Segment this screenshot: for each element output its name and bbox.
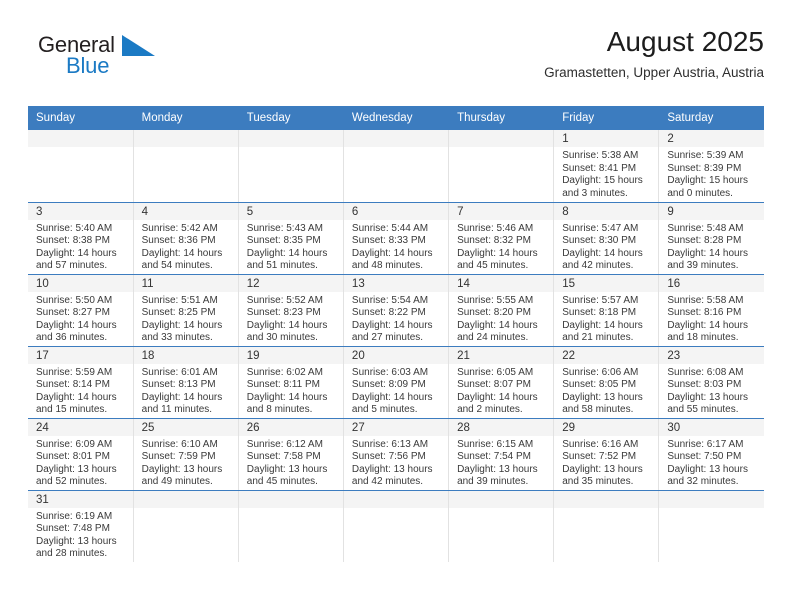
sunrise-text: Sunrise: 5:46 AM	[457, 223, 547, 236]
calendar-day-cell[interactable]: 23Sunrise: 6:08 AMSunset: 8:03 PMDayligh…	[659, 346, 764, 418]
day-details: Sunrise: 6:02 AMSunset: 8:11 PMDaylight:…	[239, 364, 343, 417]
sunset-text: Sunset: 8:13 PM	[142, 379, 232, 392]
day-details: Sunrise: 5:50 AMSunset: 8:27 PMDaylight:…	[28, 292, 133, 345]
day-details: Sunrise: 6:08 AMSunset: 8:03 PMDaylight:…	[659, 364, 764, 417]
calendar-day-cell[interactable]: 15Sunrise: 5:57 AMSunset: 8:18 PMDayligh…	[554, 274, 659, 346]
sunset-text: Sunset: 7:48 PM	[36, 523, 127, 536]
daylight-text-line1: Daylight: 13 hours	[352, 464, 442, 477]
sunset-text: Sunset: 8:20 PM	[457, 307, 547, 320]
daylight-text-line2: and 36 minutes.	[36, 332, 127, 345]
daylight-text-line1: Daylight: 14 hours	[142, 248, 232, 261]
sunrise-text: Sunrise: 5:54 AM	[352, 295, 442, 308]
day-number: 11	[134, 275, 238, 292]
sunrise-text: Sunrise: 5:51 AM	[142, 295, 232, 308]
sunset-text: Sunset: 8:22 PM	[352, 307, 442, 320]
day-number: 23	[659, 347, 764, 364]
day-details: Sunrise: 6:17 AMSunset: 7:50 PMDaylight:…	[659, 436, 764, 489]
calendar-day-cell[interactable]: 20Sunrise: 6:03 AMSunset: 8:09 PMDayligh…	[343, 346, 448, 418]
daylight-text-line2: and 24 minutes.	[457, 332, 547, 345]
daylight-text-line2: and 49 minutes.	[142, 476, 232, 489]
daylight-text-line2: and 3 minutes.	[562, 188, 652, 201]
calendar-body: 1Sunrise: 5:38 AMSunset: 8:41 PMDaylight…	[28, 130, 764, 562]
calendar-cell-empty	[659, 490, 764, 562]
day-number	[239, 491, 343, 508]
general-blue-logo[interactable]: General Blue	[38, 34, 198, 90]
sunset-text: Sunset: 8:25 PM	[142, 307, 232, 320]
day-details: Sunrise: 5:54 AMSunset: 8:22 PMDaylight:…	[344, 292, 448, 345]
day-number: 10	[28, 275, 133, 292]
sunset-text: Sunset: 7:54 PM	[457, 451, 547, 464]
sunset-text: Sunset: 7:52 PM	[562, 451, 652, 464]
daylight-text-line1: Daylight: 14 hours	[142, 320, 232, 333]
day-number: 7	[449, 203, 553, 220]
calendar-day-cell[interactable]: 13Sunrise: 5:54 AMSunset: 8:22 PMDayligh…	[343, 274, 448, 346]
day-number	[134, 491, 238, 508]
weekday-header-tuesday: Tuesday	[238, 106, 343, 130]
daylight-text-line1: Daylight: 13 hours	[36, 464, 127, 477]
daylight-text-line1: Daylight: 14 hours	[36, 392, 127, 405]
daylight-text-line2: and 42 minutes.	[562, 260, 652, 273]
sunrise-text: Sunrise: 6:17 AM	[667, 439, 758, 452]
daylight-text-line2: and 39 minutes.	[667, 260, 758, 273]
sunrise-text: Sunrise: 6:08 AM	[667, 367, 758, 380]
calendar-week-row: 3Sunrise: 5:40 AMSunset: 8:38 PMDaylight…	[28, 202, 764, 274]
calendar-day-cell[interactable]: 29Sunrise: 6:16 AMSunset: 7:52 PMDayligh…	[554, 418, 659, 490]
calendar-day-cell[interactable]: 6Sunrise: 5:44 AMSunset: 8:33 PMDaylight…	[343, 202, 448, 274]
day-details: Sunrise: 5:46 AMSunset: 8:32 PMDaylight:…	[449, 220, 553, 273]
day-details: Sunrise: 6:12 AMSunset: 7:58 PMDaylight:…	[239, 436, 343, 489]
day-number	[344, 491, 448, 508]
day-number: 17	[28, 347, 133, 364]
sunset-text: Sunset: 8:14 PM	[36, 379, 127, 392]
day-details: Sunrise: 5:42 AMSunset: 8:36 PMDaylight:…	[134, 220, 238, 273]
sunrise-text: Sunrise: 5:47 AM	[562, 223, 652, 236]
calendar-day-cell[interactable]: 19Sunrise: 6:02 AMSunset: 8:11 PMDayligh…	[238, 346, 343, 418]
sunset-text: Sunset: 7:59 PM	[142, 451, 232, 464]
page-header: General Blue August 2025 Gramastetten, U…	[28, 26, 764, 102]
day-number	[134, 130, 238, 147]
day-number: 9	[659, 203, 764, 220]
calendar-cell-empty	[238, 490, 343, 562]
daylight-text-line1: Daylight: 14 hours	[457, 320, 547, 333]
calendar-day-cell[interactable]: 22Sunrise: 6:06 AMSunset: 8:05 PMDayligh…	[554, 346, 659, 418]
day-details: Sunrise: 6:10 AMSunset: 7:59 PMDaylight:…	[134, 436, 238, 489]
daylight-text-line1: Daylight: 14 hours	[352, 392, 442, 405]
daylight-text-line1: Daylight: 13 hours	[36, 536, 127, 549]
calendar-cell-empty	[133, 490, 238, 562]
daylight-text-line2: and 30 minutes.	[247, 332, 337, 345]
daylight-text-line2: and 15 minutes.	[36, 404, 127, 417]
daylight-text-line2: and 48 minutes.	[352, 260, 442, 273]
sunrise-sunset-calendar: Sunday Monday Tuesday Wednesday Thursday…	[28, 106, 764, 562]
sunrise-text: Sunrise: 5:43 AM	[247, 223, 337, 236]
sunset-text: Sunset: 8:38 PM	[36, 235, 127, 248]
calendar-cell-empty	[133, 130, 238, 202]
sunrise-text: Sunrise: 6:01 AM	[142, 367, 232, 380]
daylight-text-line2: and 57 minutes.	[36, 260, 127, 273]
calendar-day-cell[interactable]: 2Sunrise: 5:39 AMSunset: 8:39 PMDaylight…	[659, 130, 764, 202]
day-details: Sunrise: 6:03 AMSunset: 8:09 PMDaylight:…	[344, 364, 448, 417]
daylight-text-line1: Daylight: 14 hours	[247, 248, 337, 261]
daylight-text-line1: Daylight: 14 hours	[247, 320, 337, 333]
daylight-text-line2: and 2 minutes.	[457, 404, 547, 417]
sunrise-text: Sunrise: 6:09 AM	[36, 439, 127, 452]
sunrise-text: Sunrise: 6:06 AM	[562, 367, 652, 380]
calendar-week-row: 24Sunrise: 6:09 AMSunset: 8:01 PMDayligh…	[28, 418, 764, 490]
sunrise-text: Sunrise: 6:10 AM	[142, 439, 232, 452]
sunset-text: Sunset: 8:27 PM	[36, 307, 127, 320]
calendar-day-cell[interactable]: 28Sunrise: 6:15 AMSunset: 7:54 PMDayligh…	[449, 418, 554, 490]
day-number: 1	[554, 130, 658, 147]
sunset-text: Sunset: 8:18 PM	[562, 307, 652, 320]
day-number: 4	[134, 203, 238, 220]
day-number: 14	[449, 275, 553, 292]
calendar-cell-empty	[343, 130, 448, 202]
sunset-text: Sunset: 8:03 PM	[667, 379, 758, 392]
weekday-header-row: Sunday Monday Tuesday Wednesday Thursday…	[28, 106, 764, 130]
daylight-text-line1: Daylight: 14 hours	[36, 248, 127, 261]
sunrise-text: Sunrise: 5:59 AM	[36, 367, 127, 380]
daylight-text-line1: Daylight: 13 hours	[247, 464, 337, 477]
daylight-text-line2: and 55 minutes.	[667, 404, 758, 417]
day-number	[449, 491, 553, 508]
day-details: Sunrise: 5:43 AMSunset: 8:35 PMDaylight:…	[239, 220, 343, 273]
daylight-text-line1: Daylight: 14 hours	[562, 320, 652, 333]
day-number	[449, 130, 553, 147]
day-details: Sunrise: 5:57 AMSunset: 8:18 PMDaylight:…	[554, 292, 658, 345]
blue-triangle-flag-icon	[122, 35, 156, 57]
day-number: 2	[659, 130, 764, 147]
sunset-text: Sunset: 8:39 PM	[667, 163, 758, 176]
day-details: Sunrise: 6:19 AMSunset: 7:48 PMDaylight:…	[28, 508, 133, 561]
sunrise-text: Sunrise: 6:15 AM	[457, 439, 547, 452]
calendar-day-cell[interactable]: 18Sunrise: 6:01 AMSunset: 8:13 PMDayligh…	[133, 346, 238, 418]
day-number: 6	[344, 203, 448, 220]
daylight-text-line2: and 11 minutes.	[142, 404, 232, 417]
sunrise-text: Sunrise: 5:48 AM	[667, 223, 758, 236]
daylight-text-line2: and 51 minutes.	[247, 260, 337, 273]
daylight-text-line1: Daylight: 14 hours	[142, 392, 232, 405]
calendar-day-cell[interactable]: 5Sunrise: 5:43 AMSunset: 8:35 PMDaylight…	[238, 202, 343, 274]
sunset-text: Sunset: 8:32 PM	[457, 235, 547, 248]
calendar-cell-empty	[449, 490, 554, 562]
calendar-day-cell[interactable]: 14Sunrise: 5:55 AMSunset: 8:20 PMDayligh…	[449, 274, 554, 346]
calendar-page: General Blue August 2025 Gramastetten, U…	[0, 0, 792, 612]
daylight-text-line2: and 52 minutes.	[36, 476, 127, 489]
day-number	[659, 491, 764, 508]
daylight-text-line1: Daylight: 14 hours	[352, 248, 442, 261]
calendar-week-row: 31Sunrise: 6:19 AMSunset: 7:48 PMDayligh…	[28, 490, 764, 562]
daylight-text-line2: and 54 minutes.	[142, 260, 232, 273]
day-number: 18	[134, 347, 238, 364]
daylight-text-line1: Daylight: 13 hours	[142, 464, 232, 477]
weekday-header-thursday: Thursday	[449, 106, 554, 130]
calendar-day-cell[interactable]: 26Sunrise: 6:12 AMSunset: 7:58 PMDayligh…	[238, 418, 343, 490]
day-details: Sunrise: 5:55 AMSunset: 8:20 PMDaylight:…	[449, 292, 553, 345]
sunrise-text: Sunrise: 6:16 AM	[562, 439, 652, 452]
sunrise-text: Sunrise: 5:40 AM	[36, 223, 127, 236]
sunset-text: Sunset: 8:30 PM	[562, 235, 652, 248]
day-details: Sunrise: 6:09 AMSunset: 8:01 PMDaylight:…	[28, 436, 133, 489]
sunrise-text: Sunrise: 5:38 AM	[562, 150, 652, 163]
calendar-cell-empty	[28, 130, 133, 202]
sunset-text: Sunset: 7:50 PM	[667, 451, 758, 464]
daylight-text-line1: Daylight: 14 hours	[562, 248, 652, 261]
sunrise-text: Sunrise: 6:03 AM	[352, 367, 442, 380]
day-details: Sunrise: 5:39 AMSunset: 8:39 PMDaylight:…	[659, 147, 764, 200]
daylight-text-line1: Daylight: 13 hours	[562, 392, 652, 405]
sunset-text: Sunset: 8:23 PM	[247, 307, 337, 320]
day-details: Sunrise: 5:59 AMSunset: 8:14 PMDaylight:…	[28, 364, 133, 417]
weekday-header-wednesday: Wednesday	[343, 106, 448, 130]
day-details: Sunrise: 5:40 AMSunset: 8:38 PMDaylight:…	[28, 220, 133, 273]
title-block: August 2025 Gramastetten, Upper Austria,…	[544, 26, 764, 80]
weekday-header-friday: Friday	[554, 106, 659, 130]
day-details: Sunrise: 6:06 AMSunset: 8:05 PMDaylight:…	[554, 364, 658, 417]
daylight-text-line2: and 45 minutes.	[457, 260, 547, 273]
daylight-text-line2: and 0 minutes.	[667, 188, 758, 201]
daylight-text-line2: and 35 minutes.	[562, 476, 652, 489]
calendar-day-cell[interactable]: 1Sunrise: 5:38 AMSunset: 8:41 PMDaylight…	[554, 130, 659, 202]
calendar-week-row: 17Sunrise: 5:59 AMSunset: 8:14 PMDayligh…	[28, 346, 764, 418]
day-details: Sunrise: 5:47 AMSunset: 8:30 PMDaylight:…	[554, 220, 658, 273]
sunset-text: Sunset: 8:07 PM	[457, 379, 547, 392]
calendar-day-cell[interactable]: 30Sunrise: 6:17 AMSunset: 7:50 PMDayligh…	[659, 418, 764, 490]
sunrise-text: Sunrise: 5:57 AM	[562, 295, 652, 308]
daylight-text-line1: Daylight: 13 hours	[457, 464, 547, 477]
daylight-text-line1: Daylight: 14 hours	[36, 320, 127, 333]
day-details: Sunrise: 5:51 AMSunset: 8:25 PMDaylight:…	[134, 292, 238, 345]
calendar-day-cell[interactable]: 4Sunrise: 5:42 AMSunset: 8:36 PMDaylight…	[133, 202, 238, 274]
day-number	[28, 130, 133, 147]
sunrise-text: Sunrise: 6:05 AM	[457, 367, 547, 380]
daylight-text-line1: Daylight: 15 hours	[667, 175, 758, 188]
sunrise-text: Sunrise: 5:58 AM	[667, 295, 758, 308]
sunset-text: Sunset: 8:36 PM	[142, 235, 232, 248]
day-details: Sunrise: 5:44 AMSunset: 8:33 PMDaylight:…	[344, 220, 448, 273]
day-number: 8	[554, 203, 658, 220]
sunrise-text: Sunrise: 5:50 AM	[36, 295, 127, 308]
sunrise-text: Sunrise: 6:13 AM	[352, 439, 442, 452]
daylight-text-line2: and 58 minutes.	[562, 404, 652, 417]
day-number	[554, 491, 658, 508]
daylight-text-line2: and 39 minutes.	[457, 476, 547, 489]
calendar-cell-empty	[554, 490, 659, 562]
calendar-day-cell[interactable]: 27Sunrise: 6:13 AMSunset: 7:56 PMDayligh…	[343, 418, 448, 490]
day-number: 20	[344, 347, 448, 364]
day-number: 12	[239, 275, 343, 292]
sunrise-text: Sunrise: 6:02 AM	[247, 367, 337, 380]
sunset-text: Sunset: 8:09 PM	[352, 379, 442, 392]
day-number: 30	[659, 419, 764, 436]
sunrise-text: Sunrise: 5:55 AM	[457, 295, 547, 308]
daylight-text-line1: Daylight: 13 hours	[562, 464, 652, 477]
calendar-day-cell[interactable]: 31Sunrise: 6:19 AMSunset: 7:48 PMDayligh…	[28, 490, 133, 562]
day-details: Sunrise: 6:15 AMSunset: 7:54 PMDaylight:…	[449, 436, 553, 489]
day-number: 5	[239, 203, 343, 220]
day-details: Sunrise: 5:52 AMSunset: 8:23 PMDaylight:…	[239, 292, 343, 345]
sunrise-text: Sunrise: 5:39 AM	[667, 150, 758, 163]
page-title: August 2025	[544, 26, 764, 58]
day-number: 21	[449, 347, 553, 364]
daylight-text-line2: and 33 minutes.	[142, 332, 232, 345]
day-number: 19	[239, 347, 343, 364]
calendar-cell-empty	[238, 130, 343, 202]
day-number: 22	[554, 347, 658, 364]
calendar-week-row: 1Sunrise: 5:38 AMSunset: 8:41 PMDaylight…	[28, 130, 764, 202]
daylight-text-line2: and 18 minutes.	[667, 332, 758, 345]
calendar-day-cell[interactable]: 16Sunrise: 5:58 AMSunset: 8:16 PMDayligh…	[659, 274, 764, 346]
logo-text-blue: Blue	[66, 55, 109, 77]
daylight-text-line2: and 32 minutes.	[667, 476, 758, 489]
sunrise-text: Sunrise: 5:44 AM	[352, 223, 442, 236]
day-details: Sunrise: 5:48 AMSunset: 8:28 PMDaylight:…	[659, 220, 764, 273]
sunset-text: Sunset: 8:11 PM	[247, 379, 337, 392]
daylight-text-line2: and 8 minutes.	[247, 404, 337, 417]
sunset-text: Sunset: 8:33 PM	[352, 235, 442, 248]
calendar-day-cell[interactable]: 3Sunrise: 5:40 AMSunset: 8:38 PMDaylight…	[28, 202, 133, 274]
page-subtitle: Gramastetten, Upper Austria, Austria	[544, 65, 764, 80]
day-number: 31	[28, 491, 133, 508]
day-number: 29	[554, 419, 658, 436]
sunset-text: Sunset: 8:28 PM	[667, 235, 758, 248]
calendar-day-cell[interactable]: 17Sunrise: 5:59 AMSunset: 8:14 PMDayligh…	[28, 346, 133, 418]
daylight-text-line2: and 42 minutes.	[352, 476, 442, 489]
calendar-day-cell[interactable]: 24Sunrise: 6:09 AMSunset: 8:01 PMDayligh…	[28, 418, 133, 490]
weekday-header-monday: Monday	[133, 106, 238, 130]
day-details: Sunrise: 5:38 AMSunset: 8:41 PMDaylight:…	[554, 147, 658, 200]
daylight-text-line1: Daylight: 14 hours	[667, 320, 758, 333]
calendar-day-cell[interactable]: 11Sunrise: 5:51 AMSunset: 8:25 PMDayligh…	[133, 274, 238, 346]
calendar-day-cell[interactable]: 21Sunrise: 6:05 AMSunset: 8:07 PMDayligh…	[449, 346, 554, 418]
day-number	[239, 130, 343, 147]
sunset-text: Sunset: 8:16 PM	[667, 307, 758, 320]
sunset-text: Sunset: 7:56 PM	[352, 451, 442, 464]
day-details: Sunrise: 6:01 AMSunset: 8:13 PMDaylight:…	[134, 364, 238, 417]
sunset-text: Sunset: 8:35 PM	[247, 235, 337, 248]
day-number: 3	[28, 203, 133, 220]
day-number: 15	[554, 275, 658, 292]
day-details: Sunrise: 5:58 AMSunset: 8:16 PMDaylight:…	[659, 292, 764, 345]
daylight-text-line2: and 5 minutes.	[352, 404, 442, 417]
weekday-header-saturday: Saturday	[659, 106, 764, 130]
calendar-day-cell[interactable]: 10Sunrise: 5:50 AMSunset: 8:27 PMDayligh…	[28, 274, 133, 346]
day-number: 25	[134, 419, 238, 436]
sunrise-text: Sunrise: 5:42 AM	[142, 223, 232, 236]
daylight-text-line2: and 28 minutes.	[36, 548, 127, 561]
day-number: 24	[28, 419, 133, 436]
daylight-text-line1: Daylight: 13 hours	[667, 464, 758, 477]
day-details: Sunrise: 6:13 AMSunset: 7:56 PMDaylight:…	[344, 436, 448, 489]
weekday-header-sunday: Sunday	[28, 106, 133, 130]
daylight-text-line2: and 45 minutes.	[247, 476, 337, 489]
daylight-text-line1: Daylight: 14 hours	[457, 248, 547, 261]
daylight-text-line1: Daylight: 14 hours	[457, 392, 547, 405]
day-number	[344, 130, 448, 147]
day-details: Sunrise: 6:16 AMSunset: 7:52 PMDaylight:…	[554, 436, 658, 489]
calendar-day-cell[interactable]: 9Sunrise: 5:48 AMSunset: 8:28 PMDaylight…	[659, 202, 764, 274]
daylight-text-line2: and 21 minutes.	[562, 332, 652, 345]
day-number: 13	[344, 275, 448, 292]
sunrise-text: Sunrise: 5:52 AM	[247, 295, 337, 308]
sunset-text: Sunset: 7:58 PM	[247, 451, 337, 464]
calendar-week-row: 10Sunrise: 5:50 AMSunset: 8:27 PMDayligh…	[28, 274, 764, 346]
calendar-cell-empty	[343, 490, 448, 562]
daylight-text-line1: Daylight: 14 hours	[352, 320, 442, 333]
sunset-text: Sunset: 8:05 PM	[562, 379, 652, 392]
calendar-day-cell[interactable]: 8Sunrise: 5:47 AMSunset: 8:30 PMDaylight…	[554, 202, 659, 274]
sunrise-text: Sunrise: 6:12 AM	[247, 439, 337, 452]
calendar-day-cell[interactable]: 25Sunrise: 6:10 AMSunset: 7:59 PMDayligh…	[133, 418, 238, 490]
day-number: 26	[239, 419, 343, 436]
day-number: 28	[449, 419, 553, 436]
sunset-text: Sunset: 8:01 PM	[36, 451, 127, 464]
day-number: 27	[344, 419, 448, 436]
calendar-day-cell[interactable]: 7Sunrise: 5:46 AMSunset: 8:32 PMDaylight…	[449, 202, 554, 274]
day-number: 16	[659, 275, 764, 292]
daylight-text-line1: Daylight: 15 hours	[562, 175, 652, 188]
calendar-day-cell[interactable]: 12Sunrise: 5:52 AMSunset: 8:23 PMDayligh…	[238, 274, 343, 346]
daylight-text-line1: Daylight: 14 hours	[667, 248, 758, 261]
day-details: Sunrise: 6:05 AMSunset: 8:07 PMDaylight:…	[449, 364, 553, 417]
daylight-text-line1: Daylight: 13 hours	[667, 392, 758, 405]
daylight-text-line1: Daylight: 14 hours	[247, 392, 337, 405]
sunrise-text: Sunrise: 6:19 AM	[36, 511, 127, 524]
daylight-text-line2: and 27 minutes.	[352, 332, 442, 345]
calendar-cell-empty	[449, 130, 554, 202]
sunset-text: Sunset: 8:41 PM	[562, 163, 652, 176]
